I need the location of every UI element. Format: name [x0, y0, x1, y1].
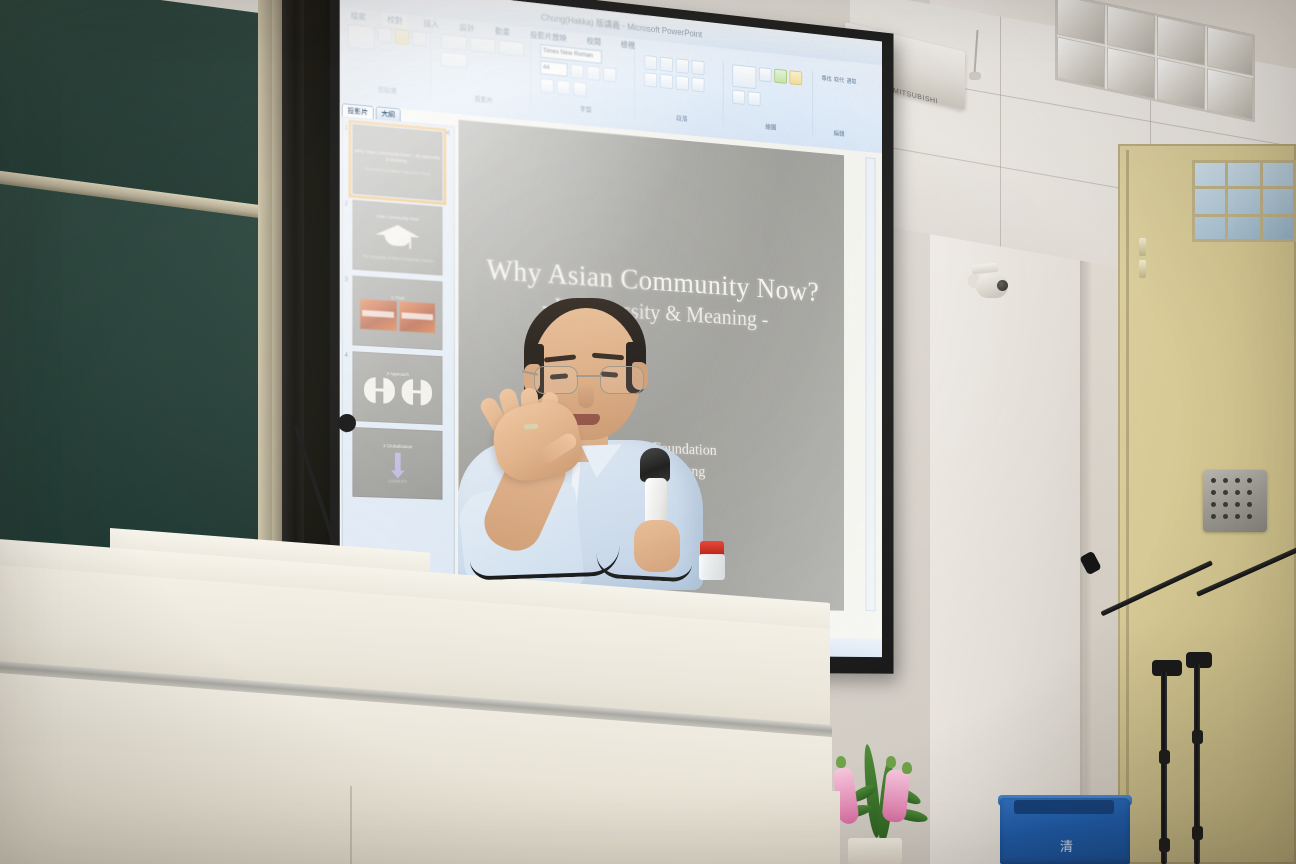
ribbon-group-font-label: 字型 [580, 103, 592, 114]
shapes-gallery-button[interactable] [732, 64, 756, 89]
ribbon-group-drawing-label: 繪圖 [765, 121, 776, 131]
paste-button[interactable] [348, 24, 375, 51]
bullets-button[interactable] [644, 55, 657, 71]
slide-scrollbar[interactable] [866, 157, 876, 611]
recycle-bin-opening [1014, 800, 1114, 814]
thumbnail-number-4: 4 [345, 353, 348, 359]
chalkboard [0, 0, 290, 570]
section-button[interactable] [441, 51, 467, 68]
thumbnail-1-title: Why Asian Community Now? - Its Necessity… [353, 148, 441, 167]
shape-outline-button[interactable] [732, 90, 745, 105]
slide-thumbnail-4[interactable]: 2 Approach [352, 351, 442, 425]
lens-pair-icon [361, 375, 434, 406]
arrange-button[interactable] [759, 67, 772, 82]
align-left-button[interactable] [644, 72, 657, 88]
presenter-ring [524, 424, 538, 430]
ribbon-group-paragraph[interactable]: 段落 [640, 53, 723, 128]
align-center-button[interactable] [660, 74, 673, 90]
character-spacing-button[interactable] [557, 80, 571, 96]
graduation-cap-icon [376, 223, 420, 252]
ribbon-group-paragraph-label: 段落 [676, 112, 687, 123]
thumbnail-2-title-left: Asia Community Now [377, 214, 419, 223]
thumbnail-number-2: 2 [345, 201, 348, 207]
mic-stand-collar-2b [1192, 826, 1203, 840]
ribbon-group-slides[interactable]: 投影片 [437, 31, 531, 109]
chalkboard-lower-panel [0, 181, 270, 589]
mic-stand-collar-1 [1159, 750, 1170, 764]
change-case-button[interactable] [573, 81, 587, 97]
slide-thumbnail-5[interactable]: 3 Globalization LOCALITY [352, 427, 442, 500]
slide-thumbnail-2[interactable]: Asia Community Now The Necessity of Asia… [352, 200, 442, 276]
shape-fill-button[interactable] [790, 70, 803, 85]
align-right-button[interactable] [676, 75, 689, 91]
screen-cord-knob[interactable] [969, 72, 981, 80]
ribbon-group-drawing[interactable]: 繪圖 [729, 62, 813, 136]
font-size-box[interactable]: 44 [540, 61, 567, 77]
numbering-button[interactable] [660, 57, 673, 73]
slide-thumbnail-3[interactable]: 1 Trust [352, 275, 442, 350]
decrease-indent-button[interactable] [676, 58, 689, 74]
thumbnail-number-3: 3 [345, 277, 348, 283]
close-icon[interactable]: ✕ [445, 128, 451, 137]
ribbon-group-font[interactable]: Times New Roman 44 字型 [537, 42, 635, 119]
pane-tab-outline[interactable]: 大綱 [376, 106, 401, 121]
thumbnail-number-1: 1 [345, 125, 348, 131]
mic-stand-collar-2 [1192, 730, 1203, 744]
ribbon-group-slides-label: 投影片 [475, 93, 493, 105]
thumbnail-4-title: 2 Approach [387, 371, 409, 378]
gooseneck-microphone-head [338, 414, 356, 432]
pane-tab-slides[interactable]: 投影片 [342, 103, 374, 119]
shape-effects-button[interactable] [748, 91, 761, 106]
shadow-button[interactable] [540, 78, 554, 94]
wall-speaker-grille [1203, 470, 1267, 532]
photo-pair-graphic [360, 299, 435, 333]
thumbnail-2-subtitle: The Necessity of Asia Community Culture [362, 253, 433, 263]
flower-bud-2 [886, 756, 896, 768]
podium [0, 536, 860, 864]
increase-indent-button[interactable] [691, 60, 704, 76]
thumbnail-1-subtitle: One Asia Foundation Joon-Kon Chung [365, 166, 431, 176]
mic-stand-collar-1b [1159, 838, 1170, 852]
ribbon-group-clipboard[interactable]: 剪貼簿 [344, 21, 431, 99]
ribbon-group-editing-label: 編輯 [834, 128, 845, 138]
underline-button[interactable] [603, 67, 616, 83]
italic-button[interactable] [587, 65, 601, 81]
down-arrow-icon [395, 453, 401, 473]
recycle-bin-label: 清 [1060, 836, 1073, 855]
format-painter-button[interactable] [412, 31, 426, 47]
door-hinge-upper [1139, 238, 1146, 256]
slide-layout-button[interactable] [470, 37, 496, 54]
bold-button[interactable] [570, 64, 584, 80]
lecture-hall-photo: MITSUBISHI Chung(Hakka) 版講義 - Microsoft … [0, 0, 1296, 864]
presenter-glasses [532, 362, 646, 396]
select-label[interactable]: 選取 [847, 76, 857, 85]
cut-button[interactable] [378, 27, 392, 43]
find-label[interactable]: 尋找 [821, 74, 831, 83]
new-slide-button[interactable] [441, 34, 467, 51]
camera-lens-icon [997, 280, 1008, 291]
slide-thumbnail-1[interactable]: Why Asian Community Now? - Its Necessity… [352, 124, 442, 201]
thumbnail-5-title: 3 Globalization [383, 443, 412, 450]
handheld-microphone-head [640, 448, 670, 482]
flower-bud-3 [902, 762, 912, 774]
ribbon-group-editing[interactable]: 尋找 取代 選取 編輯 [818, 71, 860, 140]
reset-slide-button[interactable] [499, 40, 525, 57]
quick-styles-button[interactable] [774, 69, 787, 84]
copy-button[interactable] [395, 29, 409, 45]
door-window [1192, 160, 1296, 242]
replace-label[interactable]: 取代 [834, 75, 844, 84]
mic-clutch-1[interactable] [1152, 660, 1182, 676]
ribbon-group-clipboard-label: 剪貼簿 [378, 84, 397, 96]
justify-button[interactable] [691, 77, 704, 92]
door-hinge-lower [1139, 260, 1146, 278]
thumbnail-5-subtitle: LOCALITY [388, 478, 407, 484]
mic-stand-pole-1 [1161, 672, 1167, 864]
